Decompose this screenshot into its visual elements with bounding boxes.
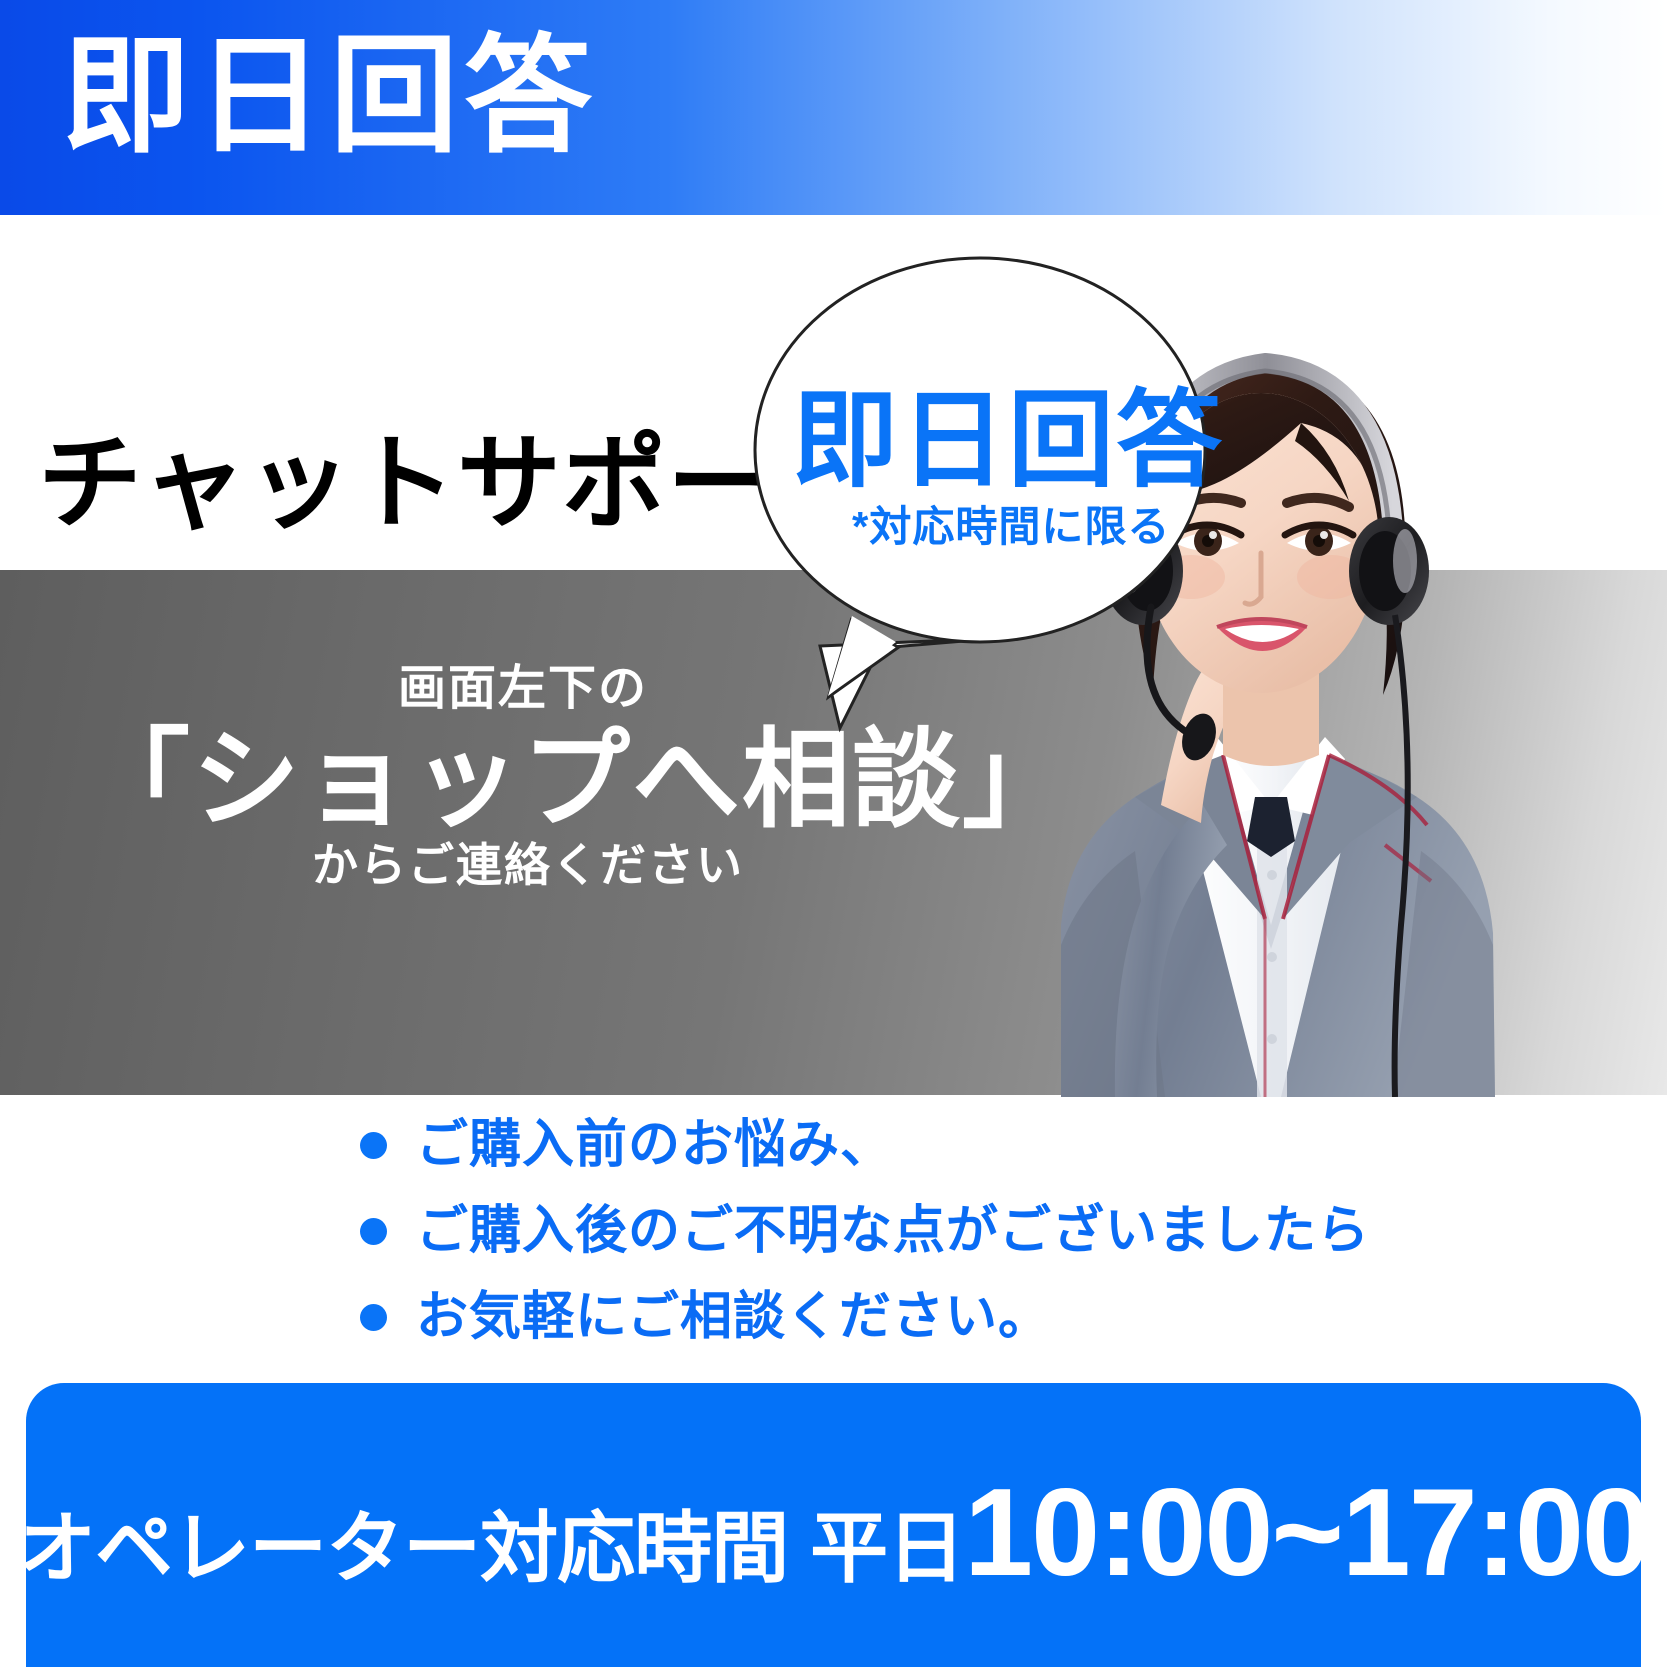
operating-hours-label: オペレーター対応時間	[18, 1509, 788, 1587]
instruction-line-1: 画面左下の	[398, 665, 648, 713]
list-item: ご購入前のお悩み、	[360, 1109, 893, 1181]
operating-hours-bar: オペレーター対応時間 平日 10:00~17:00	[26, 1383, 1641, 1667]
operating-hours-content: オペレーター対応時間 平日 10:00~17:00	[26, 1471, 1641, 1595]
bullet-dot-icon	[360, 1218, 387, 1245]
list-item-label: ご購入前のお悩み、	[416, 1119, 893, 1171]
page-title: チャットサポート	[38, 432, 877, 536]
list-item-label: お気軽にご相談ください。	[416, 1291, 1051, 1343]
operating-hours-value: 10:00~17:00	[964, 1471, 1649, 1595]
top-banner-title: 即日回答	[62, 33, 598, 161]
list-item: お気軽にご相談ください。	[360, 1281, 1051, 1353]
bullet-dot-icon	[360, 1132, 387, 1159]
list-item-label: ご購入後のご不明な点がございましたら	[416, 1205, 1370, 1257]
operator-photo	[965, 285, 1585, 1097]
instruction-line-2: 「ショップへ相談」	[82, 726, 1072, 834]
operating-hours-day-prefix: 平日	[810, 1509, 964, 1587]
benefits-list: ご購入前のお悩み、 ご購入後のご不明な点がございましたら お気軽にご相談ください…	[360, 1095, 1360, 1380]
list-item: ご購入後のご不明な点がございましたら	[360, 1195, 1370, 1267]
top-banner: 即日回答	[0, 0, 1667, 215]
bullet-dot-icon	[360, 1304, 387, 1331]
instruction-line-3: からご連絡ください	[312, 842, 744, 888]
